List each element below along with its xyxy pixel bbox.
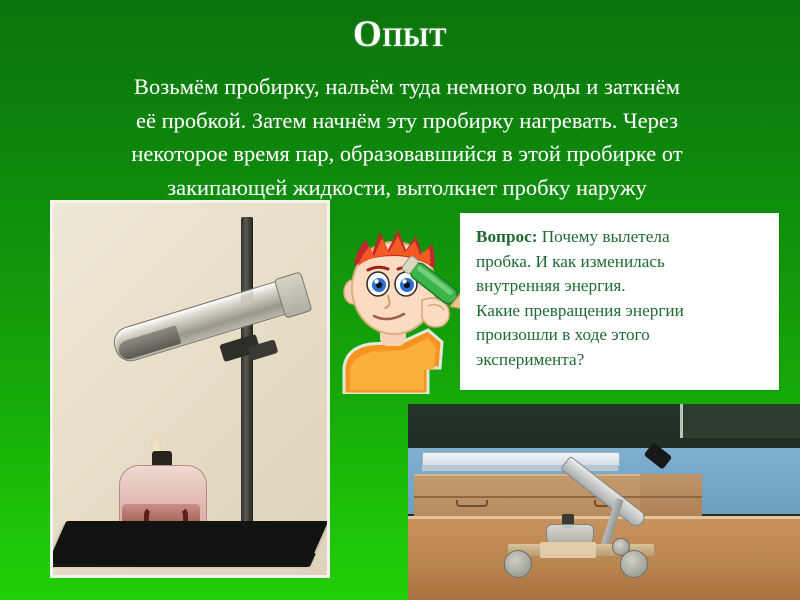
question-line-1: Вопрос: Почему вылетела bbox=[476, 225, 765, 250]
stand-rod bbox=[241, 217, 253, 529]
cart-platform bbox=[540, 542, 596, 558]
body-line-1: Возьмём пробирку, нальём туда немного во… bbox=[62, 70, 752, 104]
presentation-slide: Опыт Возьмём пробирку, нальём туда немно… bbox=[0, 0, 800, 600]
chalkboard-panel bbox=[680, 404, 800, 438]
body-line-4: закипающей жидкости, вытолкнет пробку на… bbox=[62, 171, 752, 205]
question-text: Вопрос: Почему вылетела пробка. И как из… bbox=[476, 225, 765, 372]
experiment-photo-cart bbox=[408, 404, 800, 600]
question-line-6: эксперимента? bbox=[476, 348, 765, 373]
question-line-2: пробка. И как изменилась bbox=[476, 250, 765, 275]
mascot-boy-icon bbox=[336, 222, 462, 394]
question-line-4: Какие превращения энергии bbox=[476, 299, 765, 324]
desk-surface bbox=[408, 516, 800, 600]
desk-edge bbox=[408, 516, 800, 519]
experiment-photo-stand bbox=[50, 200, 330, 578]
question-line-5: произошли в ходе этого bbox=[476, 323, 765, 348]
stand-base bbox=[50, 521, 328, 563]
question-line-1-rest: Почему вылетела bbox=[537, 227, 669, 246]
question-label: Вопрос: bbox=[476, 227, 537, 246]
cabinet-seam bbox=[414, 496, 702, 498]
body-line-2: её пробкой. Затем начнём эту пробирку на… bbox=[62, 104, 752, 138]
question-line-3: внутренняя энергия. bbox=[476, 274, 765, 299]
page-title: Опыт bbox=[0, 16, 800, 55]
question-callout-box: Вопрос: Почему вылетела пробка. И как из… bbox=[460, 213, 779, 390]
body-line-3: некоторое время пар, образовавшийся в эт… bbox=[62, 137, 752, 171]
cart-wheel-left bbox=[504, 550, 532, 578]
body-paragraph: Возьмём пробирку, нальём туда немного во… bbox=[62, 70, 752, 204]
cabinet-handle-left bbox=[456, 500, 488, 507]
cart-wheel-right bbox=[620, 550, 648, 578]
